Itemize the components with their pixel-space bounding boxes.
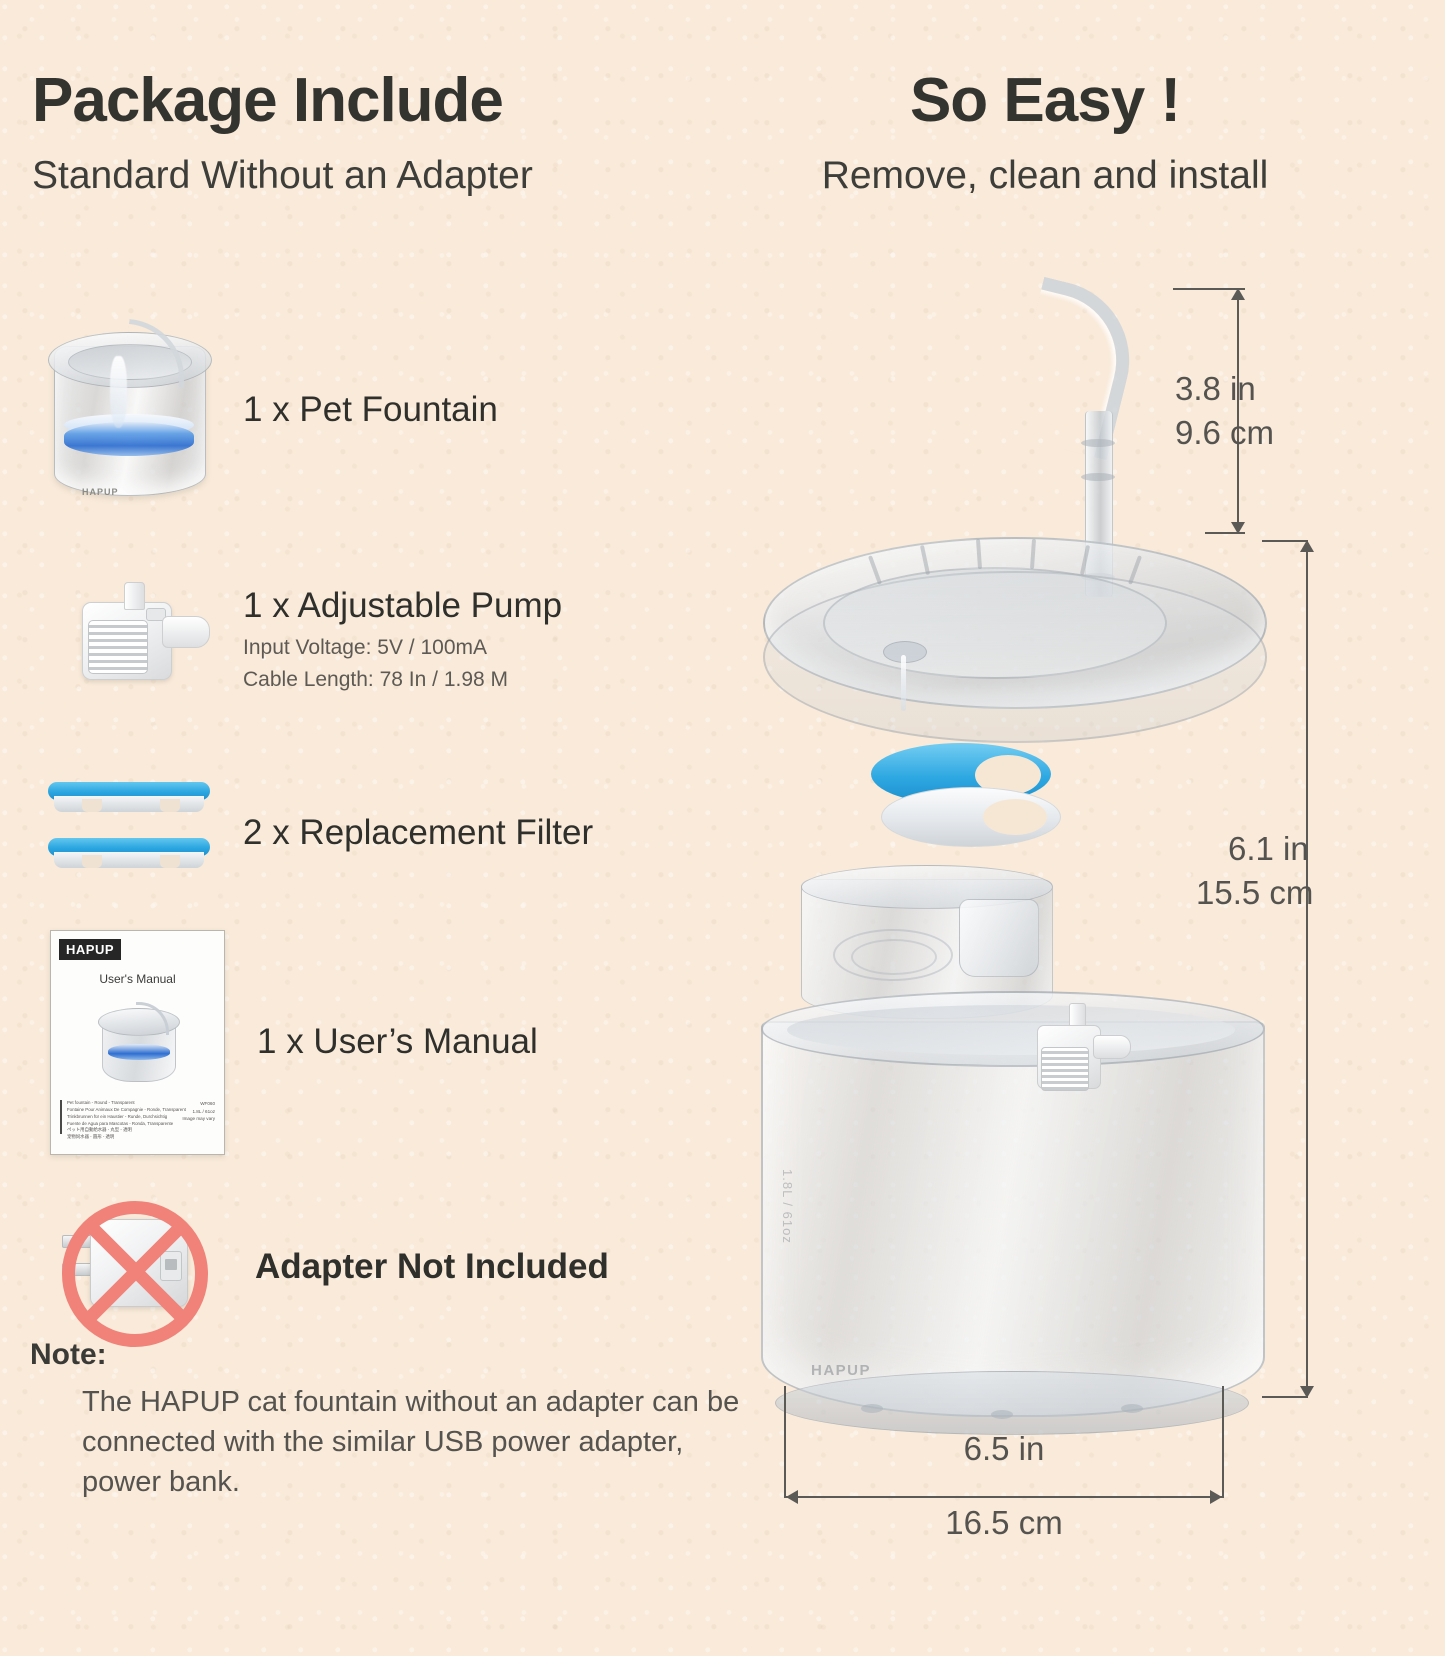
dimension-spout-imperial: 3.8 in bbox=[1175, 368, 1256, 409]
package-item-label: 1 x Adjustable Pump bbox=[243, 586, 562, 626]
package-item-label: 2 x Replacement Filter bbox=[243, 813, 593, 853]
dimension-total-imperial: 6.1 in bbox=[1228, 828, 1309, 869]
foam-filter-part bbox=[871, 743, 1086, 873]
manual-image-disclaimer: Image may vary bbox=[182, 1115, 215, 1123]
package-item-label: 1 x Pet Fountain bbox=[243, 390, 498, 430]
package-item-users-manual: HAPUP User's Manual Pet fountain - Round… bbox=[50, 930, 538, 1155]
water-pump-icon bbox=[42, 580, 217, 700]
so-easy-title: So Easy ! bbox=[745, 68, 1345, 133]
so-easy-subtitle: Remove, clean and install bbox=[745, 155, 1345, 198]
manual-fine-line: 宠物饲水器 - 圆形 - 透明 bbox=[67, 1134, 215, 1141]
package-item-replacement-filter: 2 x Replacement Filter bbox=[42, 768, 593, 898]
manual-brand-logo: HAPUP bbox=[59, 939, 121, 960]
note-title: Note: bbox=[30, 1338, 770, 1372]
manual-capacity: 1.8L / 61oz bbox=[182, 1108, 215, 1116]
package-item-pet-fountain: HAPUP 1 x Pet Fountain bbox=[42, 318, 498, 503]
package-item-label: Adapter Not Included bbox=[255, 1247, 609, 1287]
manual-model-code: WF060 bbox=[182, 1100, 215, 1108]
package-item-adjustable-pump: 1 x Adjustable Pump Input Voltage: 5V / … bbox=[42, 580, 562, 700]
pet-fountain-icon: HAPUP bbox=[42, 318, 217, 503]
dimension-diameter-metric: 16.5 cm bbox=[786, 1502, 1222, 1543]
tank-side-marking: 1.8L / 61oz bbox=[780, 1169, 795, 1244]
adapter-prohibited-icon bbox=[48, 1185, 233, 1350]
note-block: Note: The HAPUP cat fountain without an … bbox=[30, 1338, 770, 1502]
package-item-adapter-not-included: Adapter Not Included bbox=[48, 1185, 609, 1350]
note-body: The HAPUP cat fountain without an adapte… bbox=[82, 1382, 770, 1502]
package-include-title: Package Include bbox=[32, 68, 712, 133]
manual-fine-print: Pet fountain - Round - Transparent Fonta… bbox=[60, 1100, 215, 1141]
filter-pad-icon bbox=[42, 768, 217, 898]
manual-product-illustration bbox=[96, 1000, 180, 1082]
dimension-total-metric: 15.5 cm bbox=[1196, 872, 1313, 913]
pump-spec-cable-length: Cable Length: 78 In / 1.98 M bbox=[243, 665, 562, 695]
water-tank-part: HAPUP 1.8L / 61oz bbox=[761, 991, 1261, 1441]
top-lid-tray-part bbox=[763, 537, 1263, 749]
dimension-diameter-imperial: 6.5 in bbox=[786, 1428, 1222, 1469]
submersible-pump-part bbox=[1025, 1001, 1135, 1121]
exploded-product-diagram: HAPUP 1.8L / 61oz bbox=[745, 265, 1445, 1565]
manual-booklet-icon: HAPUP User's Manual Pet fountain - Round… bbox=[50, 930, 225, 1155]
package-item-label: 1 x User’s Manual bbox=[257, 1022, 538, 1062]
right-panel-header: So Easy ! Remove, clean and install bbox=[745, 68, 1345, 198]
package-include-subtitle: Standard Without an Adapter bbox=[32, 155, 712, 198]
left-panel-header: Package Include Standard Without an Adap… bbox=[32, 68, 712, 198]
dimension-spout-metric: 9.6 cm bbox=[1175, 412, 1274, 453]
pump-spec-voltage: Input Voltage: 5V / 100mA bbox=[243, 633, 562, 663]
manual-doc-title: User's Manual bbox=[50, 972, 225, 986]
fountain-thumb-logo: HAPUP bbox=[82, 487, 119, 497]
tank-brand-logo: HAPUP bbox=[811, 1362, 871, 1379]
